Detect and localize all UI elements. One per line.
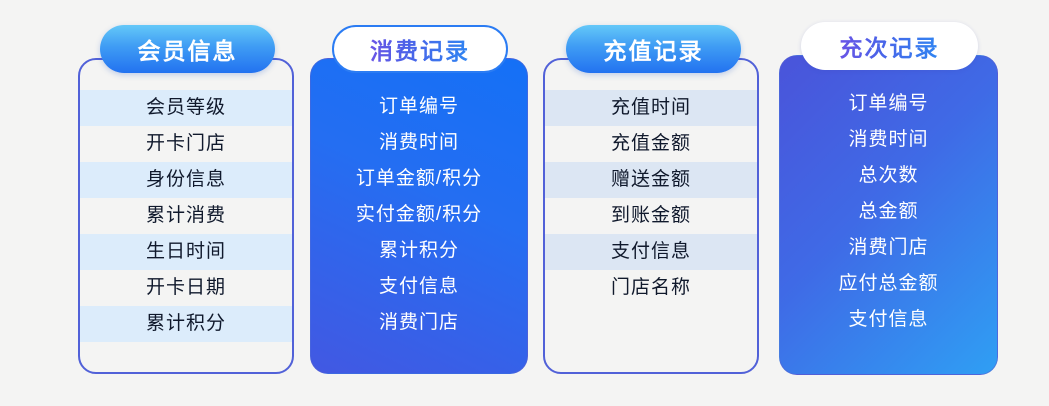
list-item[interactable]: 生日时间 [80, 234, 292, 270]
list-item[interactable]: 累计积分 [311, 233, 527, 269]
card-consumption-record[interactable]: 订单编号 消费时间 订单金额/积分 实付金额/积分 累计积分 支付信息 消费门店 [310, 28, 528, 374]
card-title-label: 充值记录 [604, 32, 704, 66]
card-title-label: 会员信息 [138, 32, 238, 66]
list-item[interactable]: 订单编号 [311, 89, 527, 125]
card-body-member-info: 会员等级 开卡门店 身份信息 累计消费 生日时间 开卡日期 累计积分 [78, 58, 294, 374]
list-item[interactable]: 总金额 [780, 194, 997, 230]
card-title-label: 消费记录 [370, 32, 470, 66]
card-body-session-record: 订单编号 消费时间 总次数 总金额 消费门店 应付总金额 支付信息 [779, 55, 998, 375]
list-item[interactable]: 应付总金额 [780, 266, 997, 302]
field-list-member-info: 会员等级 开卡门店 身份信息 累计消费 生日时间 开卡日期 累计积分 [80, 90, 292, 342]
card-header-session-record[interactable]: 充次记录 [801, 22, 978, 70]
list-item[interactable]: 会员等级 [80, 90, 292, 126]
list-item[interactable]: 支付信息 [780, 302, 997, 338]
list-item[interactable]: 实付金额/积分 [311, 197, 527, 233]
card-body-recharge-record: 充值时间 充值金额 赠送金额 到账金额 支付信息 门店名称 [543, 58, 759, 374]
list-item[interactable]: 消费门店 [311, 305, 527, 341]
list-item[interactable]: 赠送金额 [545, 162, 757, 198]
card-session-record[interactable]: 订单编号 消费时间 总次数 总金额 消费门店 应付总金额 支付信息 [779, 25, 998, 375]
card-board: 会员等级 开卡门店 身份信息 累计消费 生日时间 开卡日期 累计积分 会员信息 … [0, 0, 1049, 406]
list-item[interactable]: 订单编号 [780, 86, 997, 122]
list-item[interactable]: 累计消费 [80, 198, 292, 234]
list-item[interactable]: 开卡日期 [80, 270, 292, 306]
list-item[interactable]: 身份信息 [80, 162, 292, 198]
card-header-member-info[interactable]: 会员信息 [100, 25, 275, 73]
list-item[interactable]: 充值时间 [545, 90, 757, 126]
field-list-recharge-record: 充值时间 充值金额 赠送金额 到账金额 支付信息 门店名称 [545, 90, 757, 306]
card-recharge-record[interactable]: 充值时间 充值金额 赠送金额 到账金额 支付信息 门店名称 [543, 28, 759, 374]
list-item[interactable]: 支付信息 [545, 234, 757, 270]
list-item[interactable]: 充值金额 [545, 126, 757, 162]
card-body-consumption-record: 订单编号 消费时间 订单金额/积分 实付金额/积分 累计积分 支付信息 消费门店 [310, 58, 528, 374]
list-item[interactable]: 消费时间 [780, 122, 997, 158]
list-item[interactable]: 累计积分 [80, 306, 292, 342]
list-item[interactable]: 订单金额/积分 [311, 161, 527, 197]
field-list-consumption-record: 订单编号 消费时间 订单金额/积分 实付金额/积分 累计积分 支付信息 消费门店 [311, 89, 527, 341]
card-title-label: 充次记录 [840, 29, 940, 63]
field-list-session-record: 订单编号 消费时间 总次数 总金额 消费门店 应付总金额 支付信息 [780, 86, 997, 338]
list-item[interactable]: 开卡门店 [80, 126, 292, 162]
list-item[interactable]: 消费门店 [780, 230, 997, 266]
list-item[interactable]: 到账金额 [545, 198, 757, 234]
list-item[interactable]: 门店名称 [545, 270, 757, 306]
card-member-info[interactable]: 会员等级 开卡门店 身份信息 累计消费 生日时间 开卡日期 累计积分 [78, 28, 294, 374]
card-header-recharge-record[interactable]: 充值记录 [566, 25, 741, 73]
card-header-consumption-record[interactable]: 消费记录 [332, 25, 508, 73]
list-item[interactable]: 总次数 [780, 158, 997, 194]
list-item[interactable]: 支付信息 [311, 269, 527, 305]
list-item[interactable]: 消费时间 [311, 125, 527, 161]
